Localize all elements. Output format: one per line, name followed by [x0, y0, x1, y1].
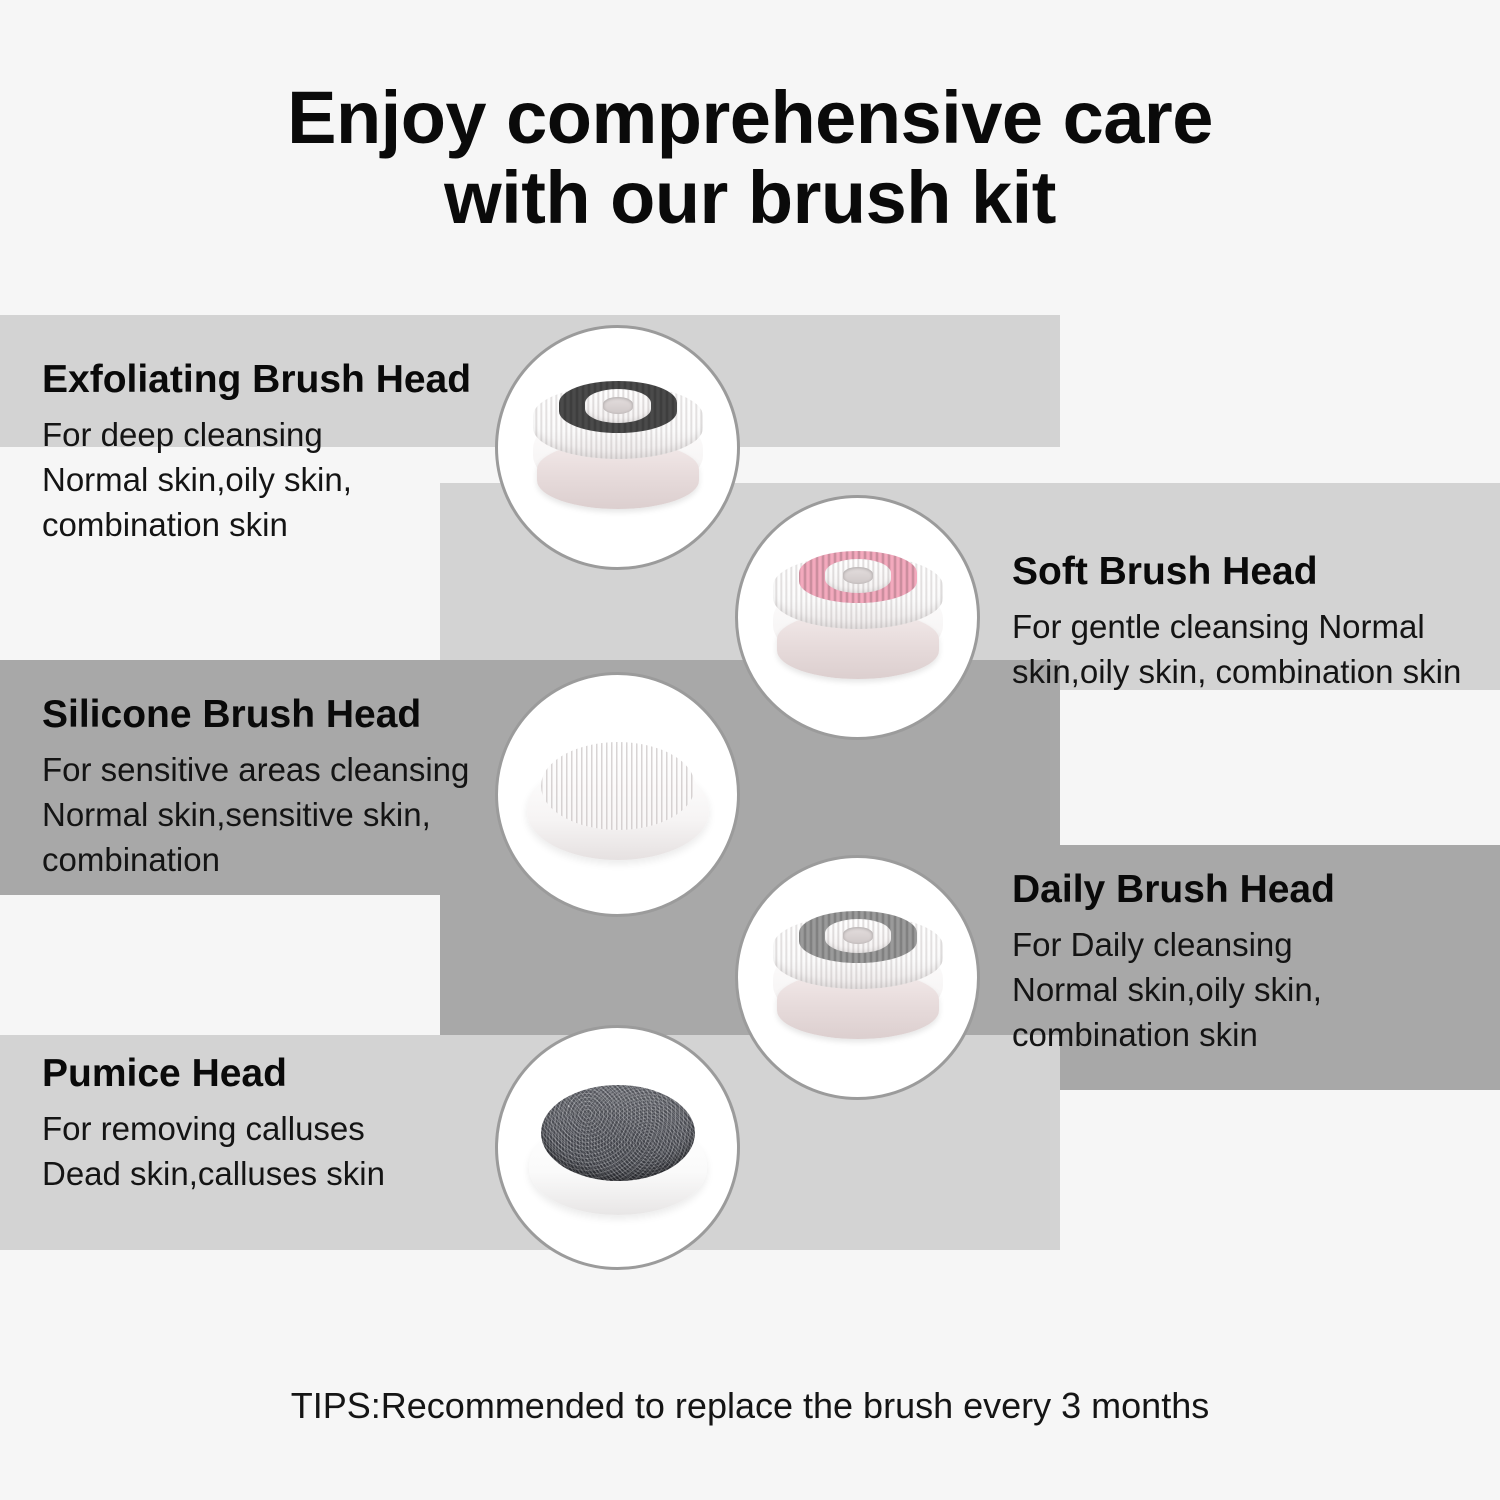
brush-center-hole [843, 567, 873, 584]
product-text-silicone: Silicone Brush Head For sensitive areas … [42, 693, 562, 882]
product-description-exfoliating: For deep cleansing Normal skin,oily skin… [42, 412, 562, 547]
description-line: Normal skin,oily skin, [1012, 967, 1500, 1012]
description-line: skin,oily skin, combination skin [1012, 649, 1500, 694]
product-text-exfoliating: Exfoliating Brush Head For deep cleansin… [42, 358, 562, 547]
soft-brush-head-photo [765, 525, 951, 711]
product-title-exfoliating: Exfoliating Brush Head [42, 358, 562, 402]
description-line: combination skin [42, 502, 562, 547]
footer-tip: TIPS:Recommended to replace the brush ev… [0, 1385, 1500, 1427]
product-title-pumice: Pumice Head [42, 1052, 562, 1096]
product-text-daily: Daily Brush Head For Daily cleansing Nor… [1012, 868, 1500, 1057]
product-title-daily: Daily Brush Head [1012, 868, 1500, 912]
description-line: For sensitive areas cleansing [42, 747, 562, 792]
product-text-soft: Soft Brush Head For gentle cleansing Nor… [1012, 550, 1500, 694]
product-description-silicone: For sensitive areas cleansing Normal ski… [42, 747, 562, 882]
description-line: For deep cleansing [42, 412, 562, 457]
page-title: Enjoy comprehensive care with our brush … [0, 78, 1500, 238]
brush-center-hole [603, 397, 633, 414]
product-description-pumice: For removing calluses Dead skin,calluses… [42, 1106, 562, 1196]
product-image-daily [735, 855, 980, 1100]
title-line-1: Enjoy comprehensive care [0, 78, 1500, 158]
product-text-pumice: Pumice Head For removing calluses Dead s… [42, 1052, 562, 1196]
pumice-stone [541, 1085, 695, 1181]
description-line: For removing calluses [42, 1106, 562, 1151]
description-line: Dead skin,calluses skin [42, 1151, 562, 1196]
brush-center-hole [843, 927, 873, 944]
description-line: combination skin [1012, 1012, 1500, 1057]
description-line: Normal skin,oily skin, [42, 457, 562, 502]
description-line: For Daily cleansing [1012, 922, 1500, 967]
description-line: combination [42, 837, 562, 882]
title-line-2: with our brush kit [0, 158, 1500, 238]
product-description-soft: For gentle cleansing Normal skin,oily sk… [1012, 604, 1500, 694]
infographic-page: Enjoy comprehensive care with our brush … [0, 0, 1500, 1500]
daily-brush-head-photo [765, 885, 951, 1071]
silicone-fins [541, 742, 695, 830]
product-title-silicone: Silicone Brush Head [42, 693, 562, 737]
product-image-soft [735, 495, 980, 740]
description-line: For gentle cleansing Normal [1012, 604, 1500, 649]
product-title-soft: Soft Brush Head [1012, 550, 1500, 594]
description-line: Normal skin,sensitive skin, [42, 792, 562, 837]
product-description-daily: For Daily cleansing Normal skin,oily ski… [1012, 922, 1500, 1057]
